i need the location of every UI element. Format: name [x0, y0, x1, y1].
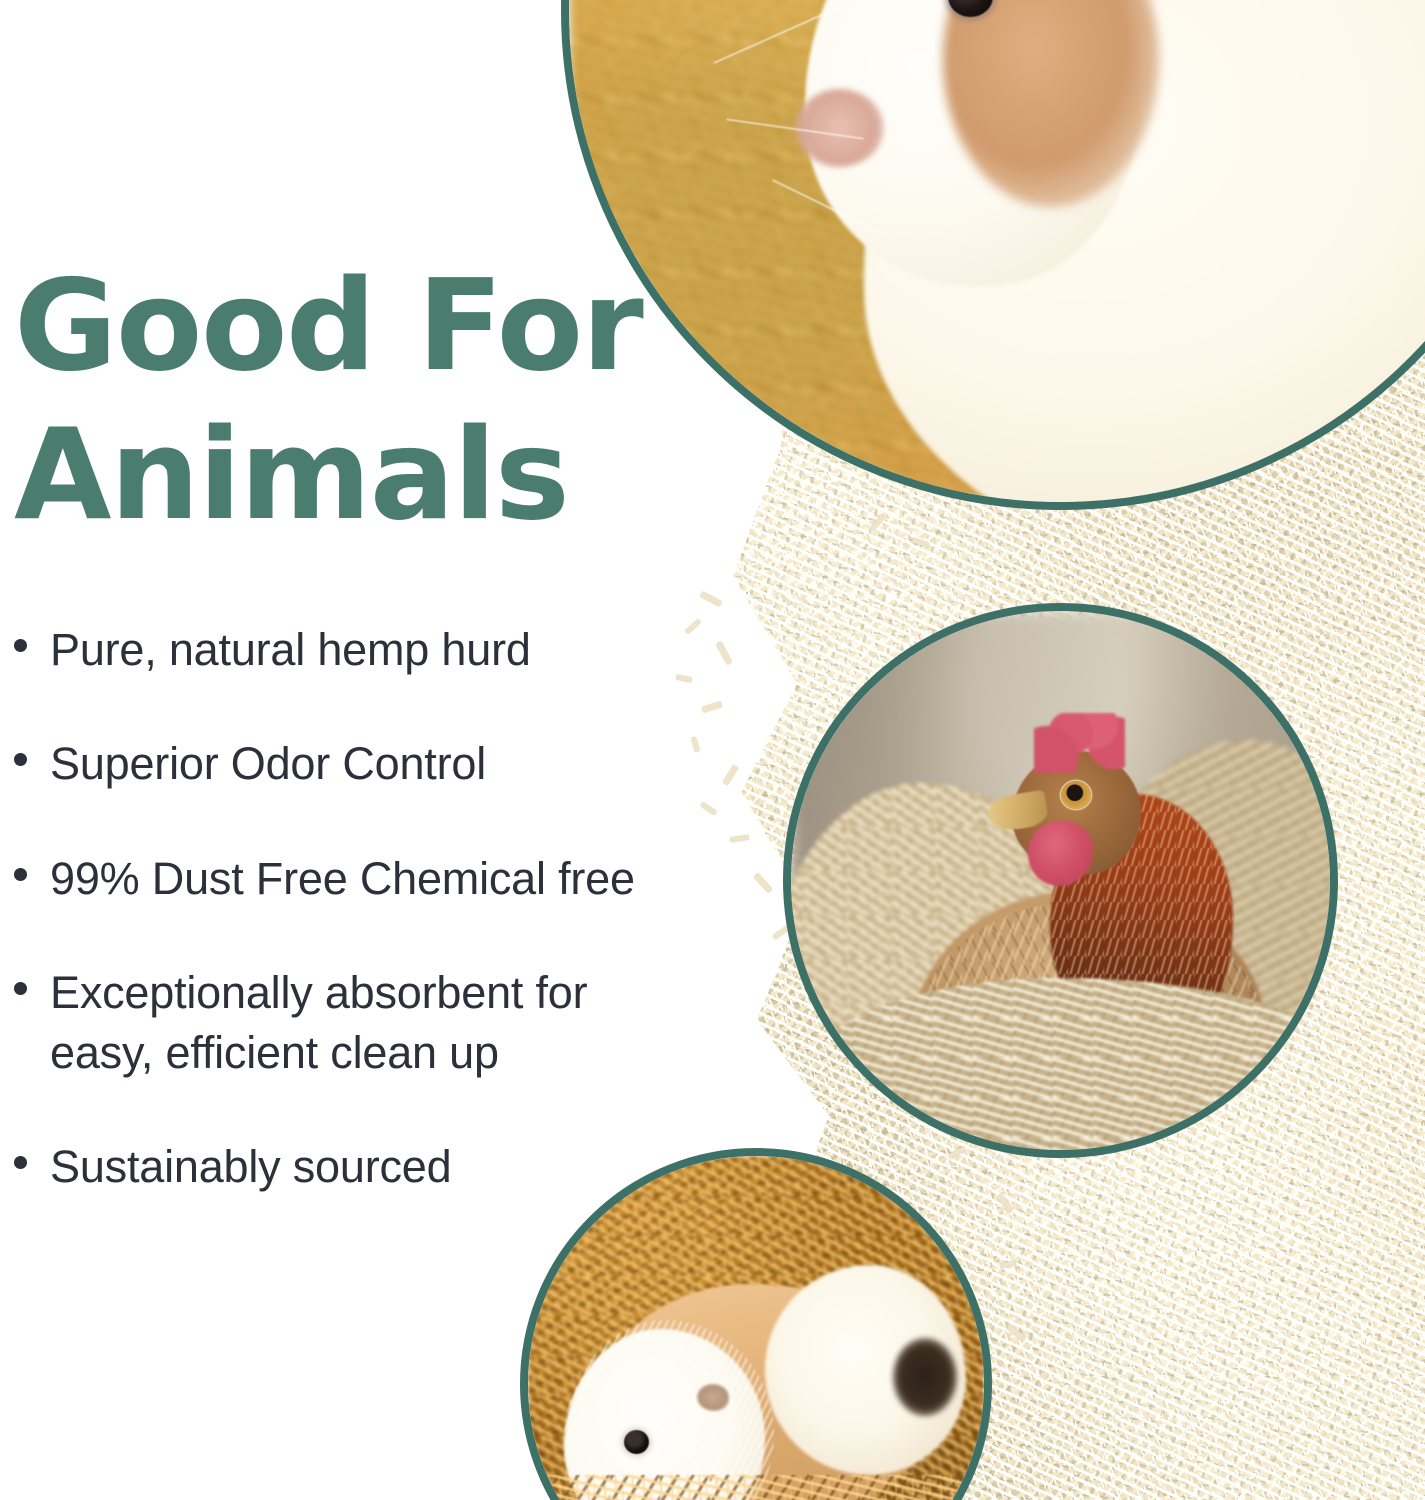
list-item: Sustainably sourced	[8, 1137, 728, 1196]
guinea-pig-dark-patch	[893, 1338, 957, 1416]
bullet-dot-icon	[14, 639, 27, 652]
list-item-label: Superior Odor Control	[50, 738, 486, 789]
chicken-photo	[783, 603, 1338, 1158]
bullet-dot-icon	[14, 1156, 27, 1169]
hemp-chip	[753, 873, 772, 893]
bullet-dot-icon	[14, 753, 27, 766]
chicken-photo-inner	[791, 611, 1330, 1150]
page-title: Good For Animals	[14, 252, 714, 549]
list-item-label: Exceptionally absorbent for easy, effici…	[50, 967, 587, 1077]
bullet-dot-icon	[14, 982, 27, 995]
list-item: Pure, natural hemp hurd	[8, 620, 728, 679]
chicken-comb	[1034, 713, 1126, 772]
chicken-eye	[1061, 781, 1091, 809]
bullet-dot-icon	[14, 868, 27, 881]
list-item-label: 99% Dust Free Chemical free	[50, 853, 635, 904]
list-item-label: Pure, natural hemp hurd	[50, 624, 531, 675]
page-title-line-1: Good For	[14, 252, 714, 401]
rabbit-nose	[795, 89, 884, 168]
list-item-label: Sustainably sourced	[50, 1141, 451, 1192]
page-title-line-2: Animals	[14, 401, 714, 550]
list-item: 99% Dust Free Chemical free	[8, 849, 728, 908]
feature-bullet-list: Pure, natural hemp hurd Superior Odor Co…	[8, 620, 728, 1196]
text-column: Good For Animals Pure, natural hemp hurd…	[0, 0, 740, 1500]
product-feature-panel: Good For Animals Pure, natural hemp hurd…	[0, 0, 1425, 1500]
list-item: Superior Odor Control	[8, 734, 728, 793]
straw-nest-foreground	[813, 978, 1330, 1150]
list-item: Exceptionally absorbent for easy, effici…	[8, 963, 690, 1082]
